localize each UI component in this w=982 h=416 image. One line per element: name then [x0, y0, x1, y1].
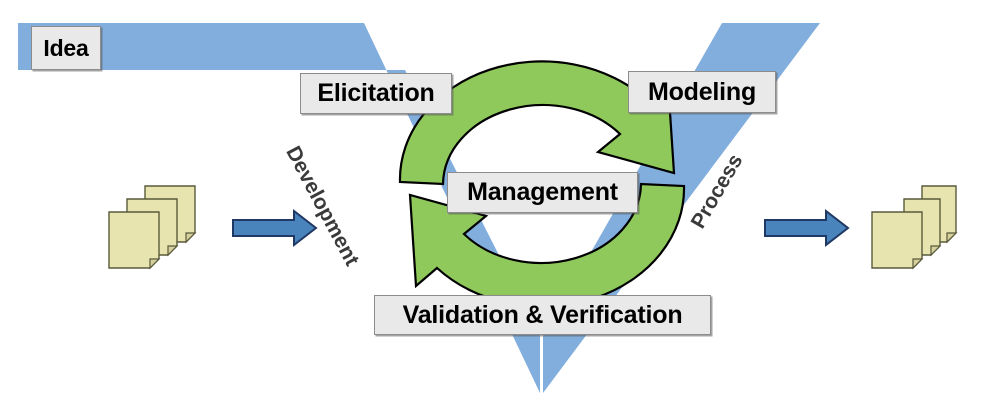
diagram-canvas: Development Process Idea Elicitation Mod…	[0, 0, 982, 416]
elicitation-label-text: Elicitation	[317, 79, 434, 108]
document-fold-middle	[168, 246, 177, 255]
modeling-label-text: Modeling	[648, 78, 756, 107]
elicitation-label-box: Elicitation	[300, 73, 452, 114]
document-fold-middle	[931, 246, 940, 255]
blue-right-arrow-output	[765, 211, 848, 245]
document-fold-back	[947, 233, 956, 242]
management-label-text: Management	[467, 178, 618, 207]
idea-label-box: Idea	[31, 26, 101, 70]
document-fold-front	[150, 259, 159, 268]
document-fold-front	[913, 259, 922, 268]
validation-verification-label-box: Validation & Verification	[374, 295, 711, 335]
validation-verification-label-text: Validation & Verification	[403, 301, 683, 330]
document-fold-back	[186, 233, 195, 242]
blue-right-arrow-input	[233, 211, 316, 245]
management-label-box: Management	[447, 172, 638, 213]
idea-label-text: Idea	[43, 35, 88, 62]
modeling-label-box: Modeling	[628, 71, 776, 113]
document-stack-input	[109, 186, 195, 268]
document-stack-output	[872, 186, 956, 268]
